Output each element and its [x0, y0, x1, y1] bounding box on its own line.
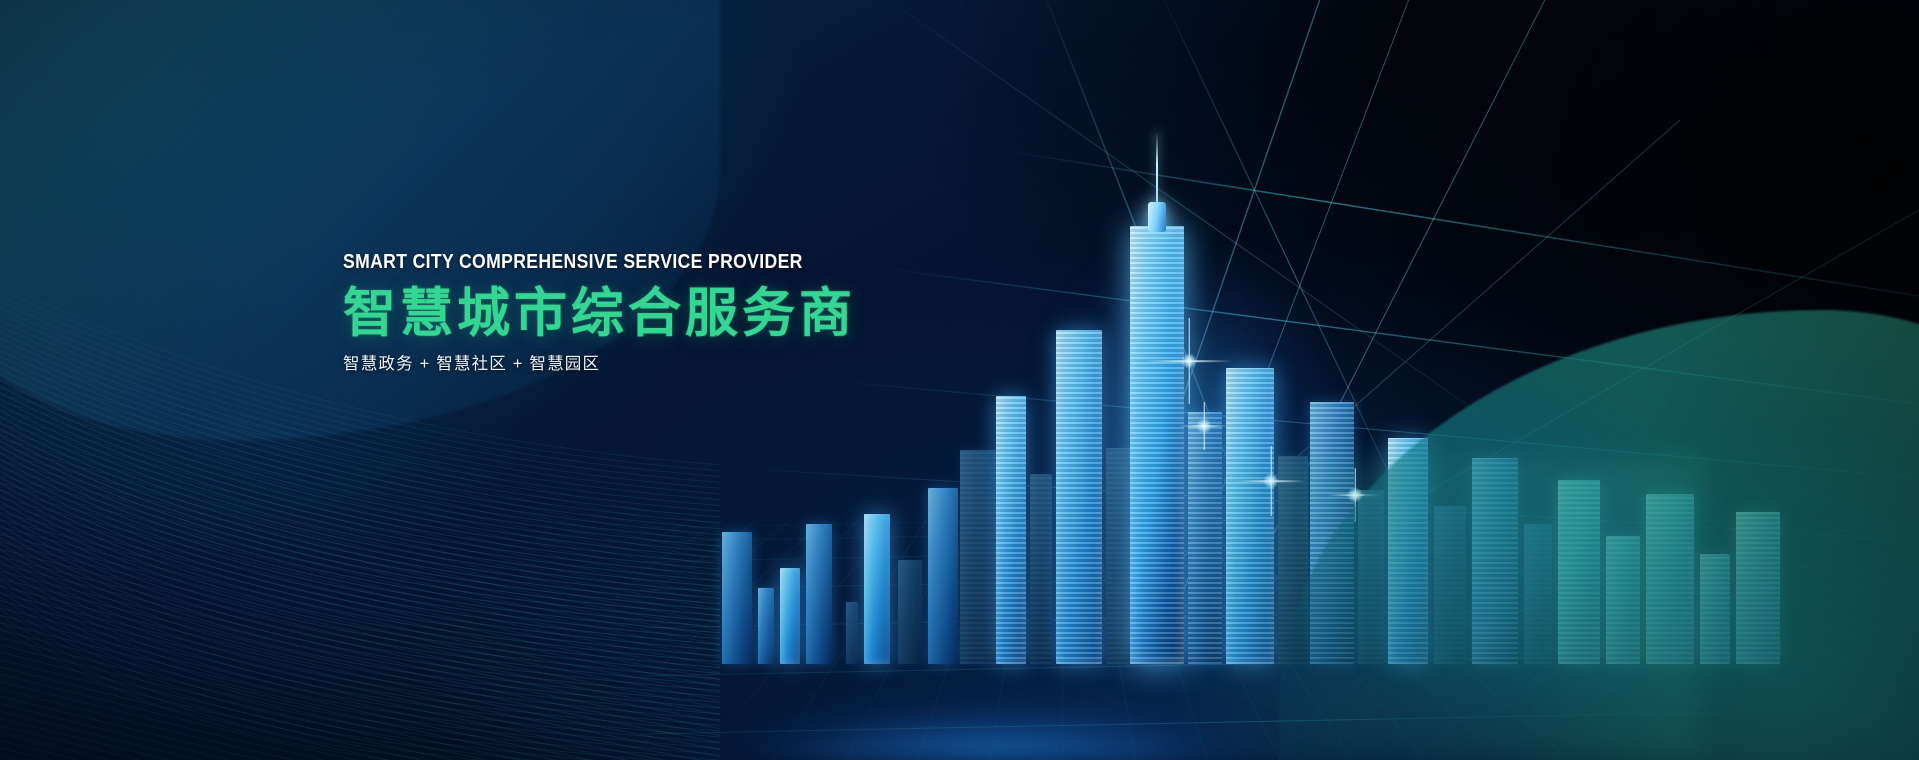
skyline-tower [1130, 226, 1184, 664]
page-title: 智慧城市综合服务商 [343, 286, 865, 342]
smart-city-banner: SMART CITY COMPREHENSIVE SERVICE PROVIDE… [0, 0, 1919, 760]
eyebrow-tagline: SMART CITY COMPREHENSIVE SERVICE PROVIDE… [343, 252, 803, 272]
subtitle-services: 智慧政务 + 智慧社区 + 智慧园区 [343, 356, 865, 373]
skyline-crown [1148, 202, 1166, 232]
headline-text-block: SMART CITY COMPREHENSIVE SERVICE PROVIDE… [343, 252, 865, 372]
